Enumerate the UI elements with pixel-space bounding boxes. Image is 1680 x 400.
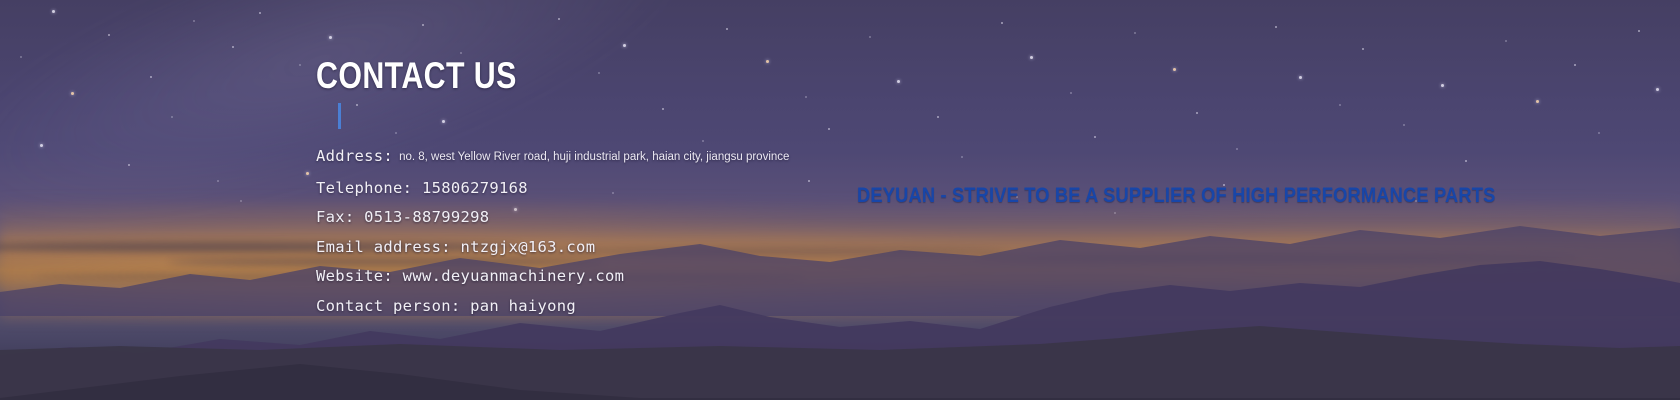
accent-bar xyxy=(338,103,341,129)
website-line[interactable]: Website: www.deyuanmachinery.com xyxy=(316,267,624,285)
contact-row-person: Contact person: pan haiyong xyxy=(316,292,789,322)
contact-row-website: Website: www.deyuanmachinery.com xyxy=(316,262,789,292)
heading-block: CONTACT US xyxy=(316,57,561,94)
contact-row-address: Address:no. 8, west Yellow River road, h… xyxy=(316,142,789,174)
email-line[interactable]: Email address: ntzgjx@163.com xyxy=(316,238,595,256)
fax-line: Fax: 0513-88799298 xyxy=(316,208,489,226)
contact-details-list: Address:no. 8, west Yellow River road, h… xyxy=(316,142,789,321)
address-value: no. 8, west Yellow River road, huji indu… xyxy=(393,151,789,163)
company-tagline: DEYUAN - STRIVE TO BE A SUPPLIER OF HIGH… xyxy=(857,185,1495,206)
contact-row-fax: Fax: 0513-88799298 xyxy=(316,203,789,233)
contact-person-line: Contact person: pan haiyong xyxy=(316,297,576,315)
telephone-line: Telephone: 15806279168 xyxy=(316,179,528,197)
address-label: Address: xyxy=(316,147,393,165)
banner-content: CONTACT US Address:no. 8, west Yellow Ri… xyxy=(0,0,1680,400)
page-title: CONTACT US xyxy=(316,57,517,94)
contact-row-telephone: Telephone: 15806279168 xyxy=(316,174,789,204)
contact-row-email: Email address: ntzgjx@163.com xyxy=(316,233,789,263)
contact-us-banner: CONTACT US Address:no. 8, west Yellow Ri… xyxy=(0,0,1680,400)
